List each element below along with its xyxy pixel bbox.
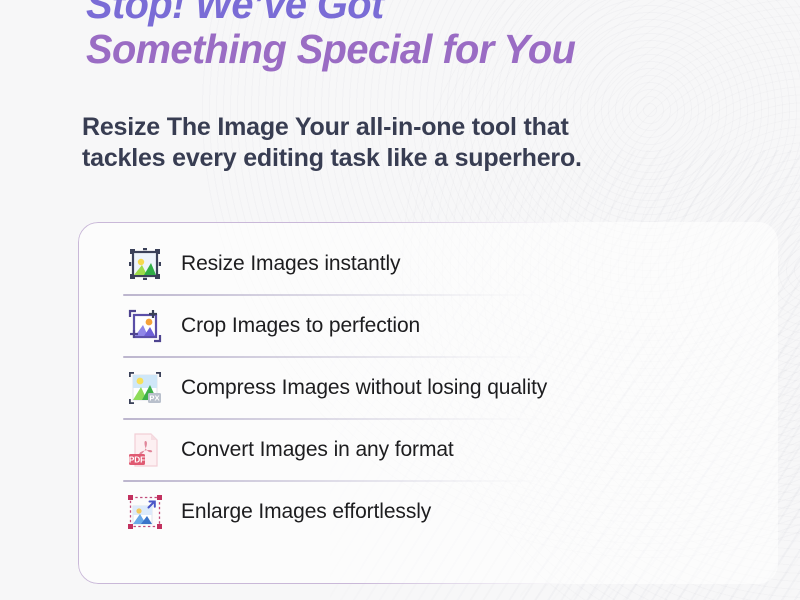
list-item-label: Compress Images without losing quality [181, 376, 547, 400]
list-item-crop[interactable]: Crop Images to perfection [78, 302, 778, 350]
list-item-label: Convert Images in any format [181, 438, 454, 462]
list-divider [123, 474, 778, 488]
svg-text:PDF: PDF [129, 455, 145, 464]
compress-image-icon: PX [123, 366, 167, 410]
page-subtitle: Resize The Image Your all-in-one tool th… [82, 112, 682, 174]
convert-pdf-icon: PDF [123, 428, 167, 472]
list-item-resize[interactable]: Resize Images instantly [78, 240, 778, 288]
list-item-convert[interactable]: PDF Convert Images in any format [78, 426, 778, 474]
svg-text:PX: PX [149, 394, 159, 403]
headline-line-2: Something Special for You [86, 27, 575, 72]
subtitle-line-1: Resize The Image Your all-in-one tool th… [82, 112, 682, 143]
resize-image-icon [123, 242, 167, 286]
headline-line-1: Stop! We’ve Got [86, 0, 575, 27]
list-item-compress[interactable]: PX Compress Images without losing qualit… [78, 364, 778, 412]
list-item-enlarge[interactable]: Enlarge Images effortlessly [78, 488, 778, 536]
feature-card: Resize Images instantly [78, 222, 778, 584]
list-item-label: Enlarge Images effortlessly [181, 500, 431, 524]
list-divider [123, 412, 778, 426]
subtitle-line-2: tackles every editing task like a superh… [82, 143, 682, 174]
feature-list: Resize Images instantly [78, 240, 778, 536]
list-item-label: Resize Images instantly [181, 252, 400, 276]
list-item-label: Crop Images to perfection [181, 314, 420, 338]
enlarge-image-icon [123, 490, 167, 534]
list-divider [123, 350, 778, 364]
list-divider [123, 288, 778, 302]
crop-image-icon [123, 304, 167, 348]
page-title: Stop! We’ve Got Something Special for Yo… [86, 0, 590, 72]
